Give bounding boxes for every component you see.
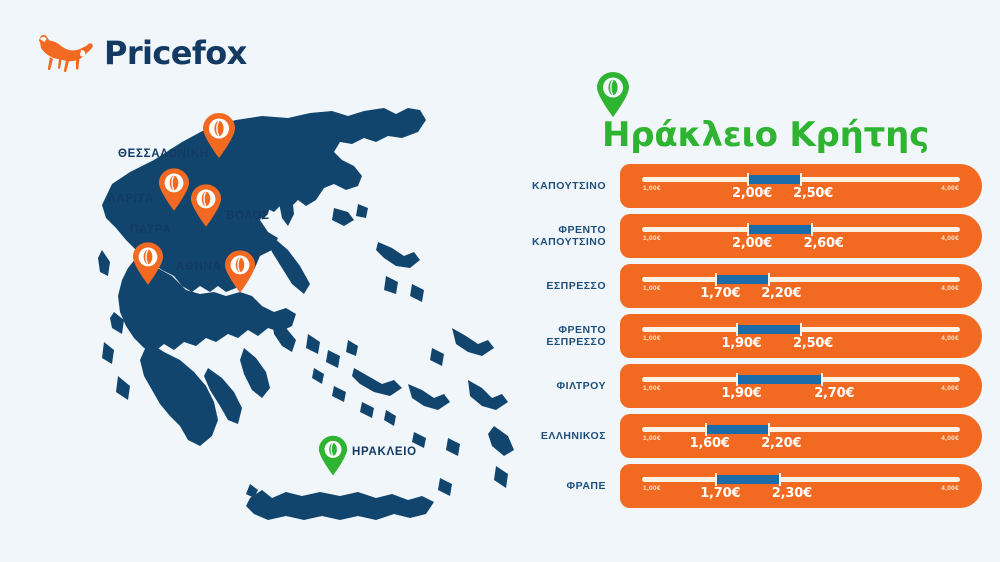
- fox-icon: [36, 30, 94, 76]
- max-price-value: 2,30€: [772, 486, 812, 501]
- price-row-label: ΦΡΕΝΤΟΕΣΠΡΕΣΣΟ: [512, 324, 620, 348]
- max-price-value: 2,70€: [814, 386, 854, 401]
- range-handle-max[interactable]: [779, 473, 781, 486]
- price-range-card[interactable]: 1,00€4,00€1,60€2,20€: [620, 414, 982, 458]
- price-row-label: ΦΙΛΤΡΟΥ: [512, 380, 620, 392]
- price-row-label-line: ΕΣΠΡΕΣΣΟ: [512, 336, 606, 348]
- range-handle-min[interactable]: [715, 273, 717, 286]
- price-row-label: ΦΡΑΠΕ: [512, 480, 620, 492]
- axis-max-label: 4,00€: [941, 435, 959, 442]
- axis-min-label: 1,00€: [643, 285, 661, 292]
- range-track[interactable]: [642, 227, 960, 232]
- price-row-label: ΕΣΠΡΕΣΣΟ: [512, 280, 620, 292]
- range-track[interactable]: [642, 277, 960, 282]
- map-pin-patra[interactable]: [132, 242, 164, 286]
- price-panel: Ηράκλειο Κρήτης ΚΑΠΟΥΤΣΙΝΟ1,00€4,00€2,00…: [512, 72, 982, 512]
- axis-min-label: 1,00€: [643, 335, 661, 342]
- range-handle-min[interactable]: [747, 223, 749, 236]
- range-track[interactable]: [642, 427, 960, 432]
- coffee-bean-pin-icon: [132, 242, 164, 286]
- price-range-card[interactable]: 1,00€4,00€1,90€2,70€: [620, 364, 982, 408]
- range-track[interactable]: [642, 477, 960, 482]
- price-row-label-line: ΦΡΕΝΤΟ: [512, 324, 606, 336]
- range-track[interactable]: [642, 327, 960, 332]
- range-fill: [737, 325, 801, 334]
- coffee-bean-pin-icon: [318, 435, 348, 477]
- axis-max-label: 4,00€: [941, 185, 959, 192]
- map-pin-irakleio[interactable]: [318, 435, 348, 477]
- min-price-value: 2,00€: [732, 186, 772, 201]
- range-handle-min[interactable]: [736, 373, 738, 386]
- coffee-bean-pin-icon: [190, 184, 222, 228]
- axis-min-label: 1,00€: [643, 185, 661, 192]
- price-range-card[interactable]: 1,00€4,00€1,90€2,50€: [620, 314, 982, 358]
- range-handle-min[interactable]: [705, 423, 707, 436]
- range-handle-min[interactable]: [747, 173, 749, 186]
- range-fill: [748, 175, 801, 184]
- price-range-card[interactable]: 1,00€4,00€2,00€2,60€: [620, 214, 982, 258]
- price-range-card[interactable]: 1,00€4,00€1,70€2,20€: [620, 264, 982, 308]
- axis-min-label: 1,00€: [643, 435, 661, 442]
- price-row: ΕΣΠΡΕΣΣΟ1,00€4,00€1,70€2,20€: [512, 262, 982, 310]
- range-handle-max[interactable]: [768, 273, 770, 286]
- greece-map: ΘΕΣΣΑΛΟΝΙΚΗ ΛΑΡΙΣΑ ΒΟΛΟΣ: [96, 80, 516, 525]
- coffee-bean-pin-icon: [158, 168, 190, 212]
- price-row-label-line: ΦΙΛΤΡΟΥ: [512, 380, 606, 392]
- min-price-value: 1,90€: [721, 336, 761, 351]
- price-row: ΦΡΑΠΕ1,00€4,00€1,70€2,30€: [512, 462, 982, 510]
- axis-max-label: 4,00€: [941, 335, 959, 342]
- price-row-label: ΦΡΕΝΤΟΚΑΠΟΥΤΣΙΝΟ: [512, 224, 620, 248]
- axis-max-label: 4,00€: [941, 285, 959, 292]
- price-range-card[interactable]: 1,00€4,00€1,70€2,30€: [620, 464, 982, 508]
- price-row: ΦΙΛΤΡΟΥ1,00€4,00€1,90€2,70€: [512, 362, 982, 410]
- range-fill: [716, 475, 780, 484]
- range-handle-max[interactable]: [800, 323, 802, 336]
- max-price-value: 2,50€: [793, 336, 833, 351]
- price-row-label-line: ΦΡΑΠΕ: [512, 480, 606, 492]
- brand-name: Pricefox: [104, 34, 247, 72]
- map-label-athina: ΑΘΗΝΑ: [176, 261, 221, 273]
- map-label-irakleio: ΗΡΑΚΛΕΙΟ: [352, 446, 417, 458]
- min-price-value: 1,60€: [690, 436, 730, 451]
- min-price-value: 1,70€: [700, 286, 740, 301]
- range-handle-min[interactable]: [736, 323, 738, 336]
- range-handle-max[interactable]: [800, 173, 802, 186]
- range-fill: [716, 275, 769, 284]
- brand-logo: Pricefox: [36, 30, 247, 76]
- min-price-value: 1,90€: [721, 386, 761, 401]
- price-row-label: ΕΛΛΗΝΙΚΟΣ: [512, 430, 620, 442]
- max-price-value: 2,20€: [761, 286, 801, 301]
- min-price-value: 1,70€: [700, 486, 740, 501]
- price-row-label-line: ΕΣΠΡΕΣΣΟ: [512, 280, 606, 292]
- price-row-label: ΚΑΠΟΥΤΣΙΝΟ: [512, 180, 620, 192]
- price-row: ΦΡΕΝΤΟΚΑΠΟΥΤΣΙΝΟ1,00€4,00€2,00€2,60€: [512, 212, 982, 260]
- map-label-patra: ΠΑΤΡΑ: [130, 224, 171, 236]
- axis-min-label: 1,00€: [643, 235, 661, 242]
- max-price-value: 2,50€: [793, 186, 833, 201]
- axis-min-label: 1,00€: [643, 485, 661, 492]
- max-price-value: 2,60€: [804, 236, 844, 251]
- range-handle-min[interactable]: [715, 473, 717, 486]
- range-track[interactable]: [642, 377, 960, 382]
- range-track[interactable]: [642, 177, 960, 182]
- price-row: ΕΛΛΗΝΙΚΟΣ1,00€4,00€1,60€2,20€: [512, 412, 982, 460]
- axis-max-label: 4,00€: [941, 485, 959, 492]
- coffee-bean-pin-icon: [596, 72, 630, 118]
- max-price-value: 2,20€: [761, 436, 801, 451]
- map-pin-volos[interactable]: [190, 184, 222, 228]
- price-row-label-line: ΕΛΛΗΝΙΚΟΣ: [512, 430, 606, 442]
- panel-header: Ηράκλειο Κρήτης: [512, 72, 982, 162]
- axis-max-label: 4,00€: [941, 235, 959, 242]
- infographic-canvas: Pricefox: [0, 0, 1000, 562]
- price-row-label-line: ΦΡΕΝΤΟ: [512, 224, 606, 236]
- range-fill: [748, 225, 812, 234]
- range-handle-max[interactable]: [821, 373, 823, 386]
- price-range-card[interactable]: 1,00€4,00€2,00€2,50€: [620, 164, 982, 208]
- axis-min-label: 1,00€: [643, 385, 661, 392]
- range-handle-max[interactable]: [768, 423, 770, 436]
- map-label-larisa: ΛΑΡΙΣΑ: [108, 193, 154, 205]
- axis-max-label: 4,00€: [941, 385, 959, 392]
- price-row-label-line: ΚΑΠΟΥΤΣΙΝΟ: [512, 180, 606, 192]
- range-fill: [706, 425, 770, 434]
- range-fill: [737, 375, 822, 384]
- map-pin-athina[interactable]: [224, 250, 256, 294]
- panel-title: Ηράκλειο Κρήτης: [602, 115, 929, 155]
- price-row: ΦΡΕΝΤΟΕΣΠΡΕΣΣΟ1,00€4,00€1,90€2,50€: [512, 312, 982, 360]
- price-row-list: ΚΑΠΟΥΤΣΙΝΟ1,00€4,00€2,00€2,50€ΦΡΕΝΤΟΚΑΠΟ…: [512, 162, 982, 510]
- range-handle-max[interactable]: [811, 223, 813, 236]
- map-pin-larisa[interactable]: [158, 168, 190, 212]
- price-row: ΚΑΠΟΥΤΣΙΝΟ1,00€4,00€2,00€2,50€: [512, 162, 982, 210]
- map-label-thessaloniki: ΘΕΣΣΑΛΟΝΙΚΗ: [118, 148, 209, 160]
- min-price-value: 2,00€: [732, 236, 772, 251]
- price-row-label-line: ΚΑΠΟΥΤΣΙΝΟ: [512, 236, 606, 248]
- coffee-bean-pin-icon: [224, 250, 256, 294]
- greece-map-shape: [96, 80, 516, 525]
- map-label-volos: ΒΟΛΟΣ: [226, 210, 270, 222]
